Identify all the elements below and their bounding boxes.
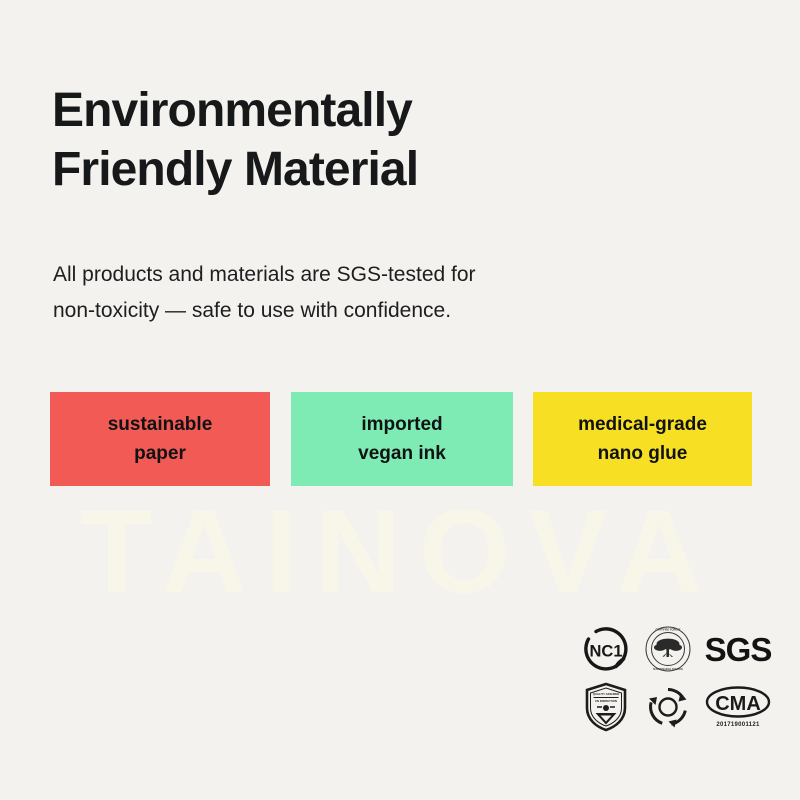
chip-medical-grade-nano-glue: medical-grade nano glue bbox=[533, 392, 752, 486]
chip-label-line-2: nano glue bbox=[598, 439, 688, 468]
certification-badge-grid: NC1 CERTIFIED FOREST SUSTAINABLE SOURCE bbox=[575, 620, 780, 736]
tree-seal-icon: CERTIFIED FOREST SUSTAINABLE SOURCE bbox=[644, 625, 692, 673]
svg-text:QUALITY ASSURED: QUALITY ASSURED bbox=[593, 692, 620, 696]
chip-sustainable-paper: sustainable paper bbox=[50, 392, 270, 486]
chip-label-line-1: medical-grade bbox=[578, 410, 707, 439]
shield-seal-icon: QUALITY ASSURED CN INSPECTION bbox=[584, 682, 628, 732]
page-description: All products and materials are SGS-teste… bbox=[53, 257, 673, 329]
cma-logo-icon: CMA 201719001121 bbox=[705, 686, 771, 728]
svg-text:CN INSPECTION: CN INSPECTION bbox=[595, 699, 617, 703]
page-title: Environmentally Friendly Material bbox=[52, 82, 752, 199]
cma-serial-number: 201719001121 bbox=[716, 722, 759, 728]
chip-label-line-1: imported bbox=[361, 410, 442, 439]
sgs-logo-text: SGS bbox=[705, 633, 772, 666]
page-title-line-2: Friendly Material bbox=[52, 141, 752, 200]
page-description-line-2: non-toxicity — safe to use with confiden… bbox=[53, 293, 673, 329]
chip-label-line-1: sustainable bbox=[108, 410, 213, 439]
poster-canvas: TAINOVA Environmentally Friendly Materia… bbox=[0, 0, 800, 800]
page-title-line-1: Environmentally bbox=[52, 82, 752, 141]
svg-text:NC1: NC1 bbox=[589, 643, 622, 661]
chip-label-line-2: paper bbox=[134, 439, 186, 468]
brand-watermark: TAINOVA bbox=[0, 487, 800, 617]
svg-text:CERTIFIED FOREST: CERTIFIED FOREST bbox=[656, 628, 681, 632]
nc1-circle-icon: NC1 bbox=[583, 626, 629, 672]
svg-text:CMA: CMA bbox=[715, 693, 761, 715]
chip-imported-vegan-ink: imported vegan ink bbox=[291, 392, 513, 486]
page-description-line-1: All products and materials are SGS-teste… bbox=[53, 257, 673, 293]
recycle-arrows-icon bbox=[645, 684, 691, 730]
svg-text:SUSTAINABLE SOURCE: SUSTAINABLE SOURCE bbox=[653, 667, 683, 671]
sgs-logo-icon: SGS bbox=[705, 633, 772, 666]
material-chip-list: sustainable paper imported vegan ink med… bbox=[50, 392, 752, 486]
chip-label-line-2: vegan ink bbox=[358, 439, 446, 468]
